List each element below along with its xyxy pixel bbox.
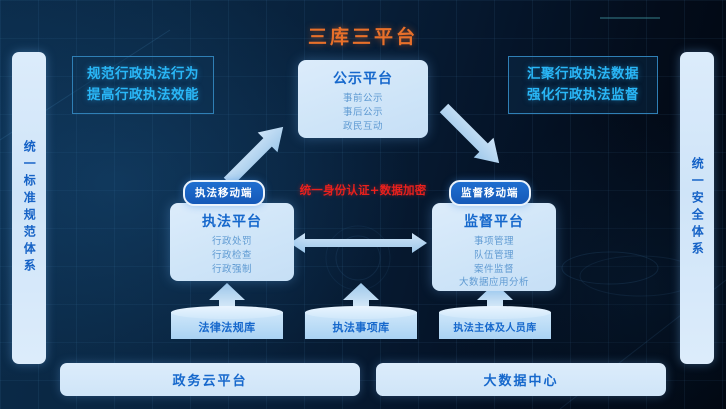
sidebar-right-label: 统一安全体系 — [691, 157, 704, 259]
sidebar-standard-system: 统一标准规范体系 — [12, 52, 46, 364]
arrow-public-to-supervise — [434, 98, 509, 173]
card-supervise-item-1: 队伍管理 — [432, 249, 556, 263]
database-law-regulations[interactable]: 法律法规库 — [171, 306, 283, 344]
card-supervise-title: 监督平台 — [432, 211, 556, 231]
card-supervise-item-2: 案件监督 — [432, 263, 556, 277]
pill-supervision-mobile[interactable]: 监督移动端 — [449, 180, 531, 206]
card-enforce-title: 执法平台 — [170, 211, 294, 231]
card-enforcement-platform[interactable]: 执法平台 行政处罚 行政检查 行政强制 — [170, 203, 294, 281]
db-3-top — [439, 306, 551, 319]
db-2-top — [305, 306, 417, 319]
callout-right-line1: 汇聚行政执法数据 — [519, 64, 647, 85]
card-supervise-item-3: 大数据应用分析 — [432, 276, 556, 290]
page-title: 三库三平台 — [0, 22, 726, 49]
card-supervision-platform[interactable]: 监督平台 事项管理 队伍管理 案件监督 大数据应用分析 — [432, 203, 556, 291]
callout-left-line1: 规范行政执法行为 — [83, 64, 203, 85]
db-2-label: 执法事项库 — [305, 319, 417, 335]
card-public-item-0: 事前公示 — [298, 92, 428, 106]
card-enforce-item-1: 行政检查 — [170, 249, 294, 263]
pill-enforcement-mobile[interactable]: 执法移动端 — [183, 180, 265, 206]
db-1-top — [171, 306, 283, 319]
db-3-label: 执法主体及人员库 — [439, 319, 551, 334]
database-enforcement-matters[interactable]: 执法事项库 — [305, 306, 417, 344]
card-enforce-item-2: 行政强制 — [170, 263, 294, 277]
card-public-item-2: 政民互动 — [298, 120, 428, 134]
card-enforce-item-0: 行政处罚 — [170, 235, 294, 249]
arrow-enforce-supervise-bidirectional — [290, 233, 427, 253]
bottom-bigdata-center[interactable]: 大数据中心 — [376, 363, 666, 396]
card-public-title: 公示平台 — [298, 68, 428, 88]
database-subjects-personnel[interactable]: 执法主体及人员库 — [439, 306, 551, 344]
center-auth-label: 统一身份认证+数据加密 — [291, 182, 435, 198]
bottom-gov-cloud-platform[interactable]: 政务云平台 — [60, 363, 360, 396]
callout-left-line2: 提高行政执法效能 — [83, 85, 203, 106]
card-supervise-item-0: 事项管理 — [432, 235, 556, 249]
card-public-item-1: 事后公示 — [298, 106, 428, 120]
sidebar-left-label: 统一标准规范体系 — [23, 140, 36, 276]
callout-right-line2: 强化行政执法监督 — [519, 85, 647, 106]
callout-left: 规范行政执法行为 提高行政执法效能 — [72, 56, 214, 114]
sidebar-security-system: 统一安全体系 — [680, 52, 714, 364]
db-1-label: 法律法规库 — [171, 319, 283, 335]
diagram-canvas: 三库三平台 统一标准规范体系 统一安全体系 规范行政执法行为 提高行政执法效能 … — [0, 0, 726, 409]
card-public-platform[interactable]: 公示平台 事前公示 事后公示 政民互动 — [298, 60, 428, 138]
callout-right: 汇聚行政执法数据 强化行政执法监督 — [508, 56, 658, 114]
